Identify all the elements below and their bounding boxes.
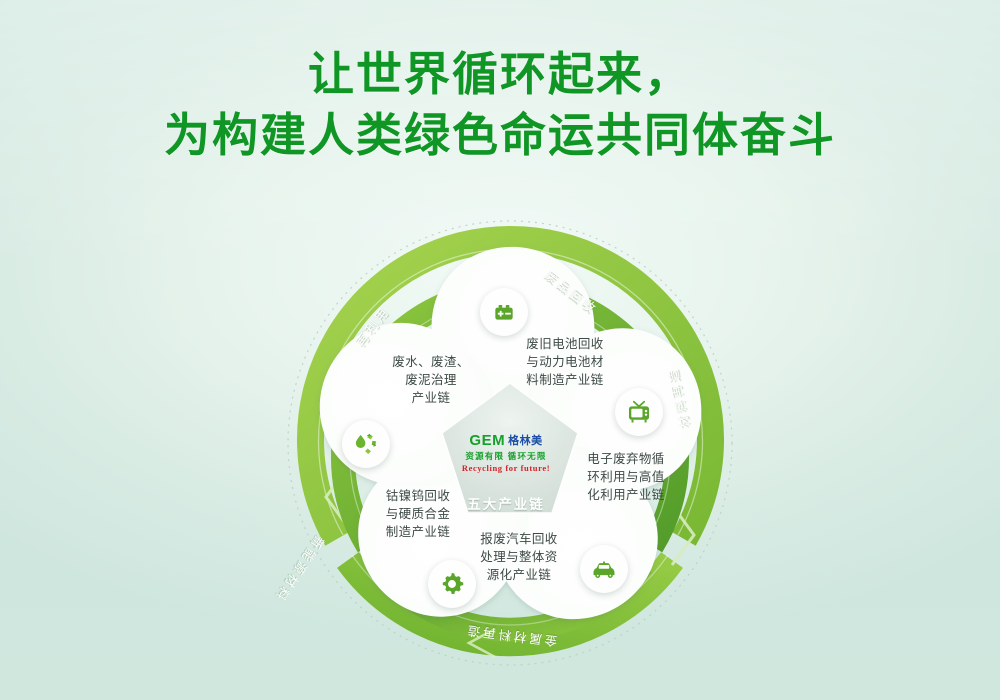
segment-label-waste-water: 废水、废渣、 废泥治理 产业链: [372, 353, 490, 407]
page-title: 让世界循环起来， 为构建人类绿色命运共同体奋斗: [0, 44, 1000, 165]
brand-logo: GEM 格林美: [447, 432, 565, 448]
page-title-line-1: 让世界循环起来，: [0, 44, 1000, 105]
water-recycle-icon: [352, 430, 380, 458]
battery-icon-badge[interactable]: [480, 288, 528, 336]
car-icon: [590, 555, 618, 583]
segment-label-ewaste: 电子废弃物循 环利用与高值 化利用产业链: [572, 450, 680, 504]
brand-name-cn: 格林美: [508, 432, 543, 448]
center-logo-block: GEM 格林美 资源有限 循环无限 Recycling for future! …: [447, 418, 565, 528]
segment-label-vehicle: 报废汽车回收 处理与整体资 源化产业链: [460, 530, 578, 584]
brand-slogan-en: Recycling for future!: [447, 463, 565, 473]
battery-icon: [491, 299, 517, 325]
gear-icon: [438, 570, 466, 598]
center-subtitle: 五大产业链: [447, 493, 565, 513]
car-icon-badge[interactable]: [580, 545, 628, 593]
brand-slogan-cn: 资源有限 循环无限: [447, 450, 565, 462]
gear-icon-badge[interactable]: [428, 560, 476, 608]
page-title-line-2: 为构建人类绿色命运共同体奋斗: [0, 105, 1000, 166]
brand-name-en: GEM: [469, 433, 505, 448]
segment-label-battery: 废旧电池回收 与动力电池材 料制造产业链: [504, 335, 626, 389]
tv-icon-badge[interactable]: [615, 388, 663, 436]
tv-icon: [625, 398, 653, 426]
water-recycle-icon-badge[interactable]: [342, 420, 390, 468]
